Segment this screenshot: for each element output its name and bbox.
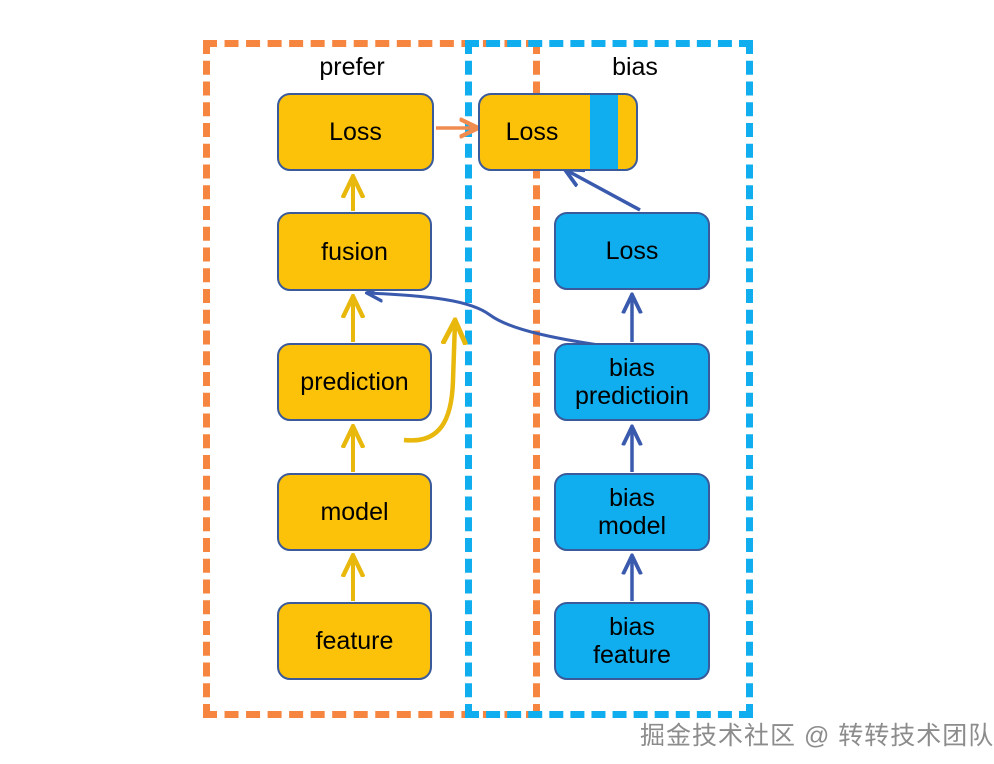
watermark: 掘金技术社区 @ 转转技术团队 (640, 716, 994, 752)
node-fusion[interactable]: fusion (277, 212, 432, 291)
node-prediction[interactable]: prediction (277, 343, 432, 421)
node-model[interactable]: model (277, 473, 432, 551)
node-label: fusion (321, 238, 388, 266)
node-bias-feature[interactable]: bias feature (554, 602, 710, 680)
node-label: Loss (606, 237, 659, 265)
node-label: Loss (329, 118, 382, 146)
node-feature[interactable]: feature (277, 602, 432, 680)
node-bias-prediction[interactable]: bias predictioin (554, 343, 710, 421)
node-label: prediction (300, 368, 408, 396)
node-label: bias feature (593, 613, 671, 669)
node-bias-loss[interactable]: Loss (554, 212, 710, 290)
group-label-prefer: prefer (262, 55, 442, 80)
node-label: Loss (506, 118, 559, 146)
combined-loss-blue-stripe (590, 95, 618, 169)
node-bias-model[interactable]: bias model (554, 473, 710, 551)
node-prefer-loss[interactable]: Loss (277, 93, 434, 171)
node-label: bias predictioin (575, 354, 689, 410)
node-label: model (320, 498, 388, 526)
node-label: bias model (598, 484, 666, 540)
diagram-canvas: prefer bias (0, 0, 994, 764)
node-combined-loss[interactable]: Loss (478, 93, 638, 171)
group-label-bias: bias (545, 55, 725, 80)
node-label: feature (316, 627, 394, 655)
